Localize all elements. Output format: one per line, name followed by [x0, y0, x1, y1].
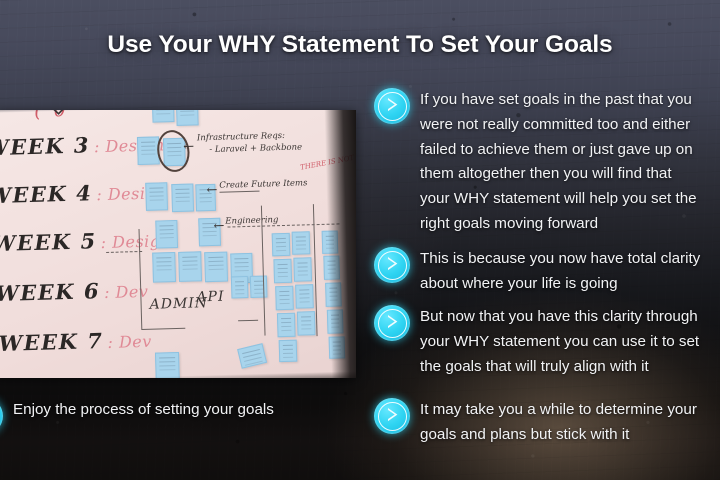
- week-phase: : Dev: [104, 282, 149, 302]
- sticky-note: [297, 311, 316, 335]
- sticky-note: [279, 340, 298, 362]
- bullet-item-1: If you have set goals in the past that y…: [374, 88, 720, 237]
- sticky-note: [178, 251, 202, 282]
- week-label: WEEK 7: [0, 328, 104, 356]
- bullet-text: If you have set goals in the past that y…: [420, 88, 697, 237]
- week-row-2: WEEK 4: Design: [0, 178, 167, 208]
- sticky-note: [237, 343, 267, 369]
- whiteboard-planning-photo: ( 0 ⋄ WEEK 3: Design WEEK 4: Design WEEK…: [0, 110, 356, 378]
- play-circle-icon[interactable]: [0, 398, 3, 434]
- week-label: WEEK 5: [0, 228, 97, 256]
- sticky-note: [292, 231, 311, 254]
- sticky-note: [273, 259, 292, 283]
- sticky-note: [272, 233, 291, 256]
- sticky-note: [231, 276, 249, 298]
- sticky-note: [152, 252, 176, 283]
- sticky-note: [293, 257, 312, 281]
- sticky-note: [145, 182, 168, 211]
- sticky-note: [155, 220, 178, 249]
- sticky-note: [171, 183, 194, 212]
- sticky-note: [152, 110, 175, 123]
- annotation: API: [196, 289, 224, 306]
- week-row-3: WEEK 5: Design: [0, 226, 172, 256]
- sticky-note: [204, 252, 228, 283]
- week-phase: : Dev: [107, 332, 152, 352]
- play-circle-icon[interactable]: [374, 88, 410, 124]
- whiteboard-surface: ( 0 ⋄ WEEK 3: Design WEEK 4: Design WEEK…: [0, 110, 356, 378]
- week-label: WEEK 6: [0, 278, 100, 306]
- week-label: WEEK 4: [0, 180, 93, 208]
- sticky-note: [250, 275, 268, 297]
- sticky-note: [295, 284, 314, 308]
- bullet-text: Enjoy the process of setting your goals: [13, 398, 274, 423]
- annotation: Create Future Items: [219, 178, 307, 190]
- bullet-item-2: This is because you now have total clari…: [374, 247, 720, 297]
- page-title: Use Your WHY Statement To Set Your Goals: [0, 31, 720, 59]
- bullet-item-4: It may take you a while to determine you…: [374, 398, 720, 448]
- play-circle-icon[interactable]: [374, 247, 410, 283]
- bullet-item-3: But now that you have this clarity throu…: [374, 305, 720, 379]
- bullet-text: But now that you have this clarity throu…: [420, 305, 699, 379]
- annotation: - Laravel + Backbone: [209, 142, 302, 155]
- sticky-note: [155, 352, 180, 378]
- sticky-note: [277, 313, 296, 337]
- annotation: Infrastructure Reqs:: [197, 131, 285, 143]
- week-row-4: WEEK 6: Dev: [0, 277, 149, 306]
- week-row-5: WEEK 7: Dev: [0, 327, 152, 356]
- slide-canvas: ( 0 ⋄ WEEK 3: Design WEEK 4: Design WEEK…: [0, 0, 720, 480]
- week-label: WEEK 3: [0, 132, 90, 160]
- sticky-note: [176, 110, 199, 126]
- play-circle-icon[interactable]: [374, 305, 410, 341]
- bullet-item-5: Enjoy the process of setting your goals: [0, 398, 387, 434]
- bullet-text: It may take you a while to determine you…: [420, 398, 697, 448]
- sticky-note: [275, 286, 294, 310]
- bullet-text: This is because you now have total clari…: [420, 247, 700, 297]
